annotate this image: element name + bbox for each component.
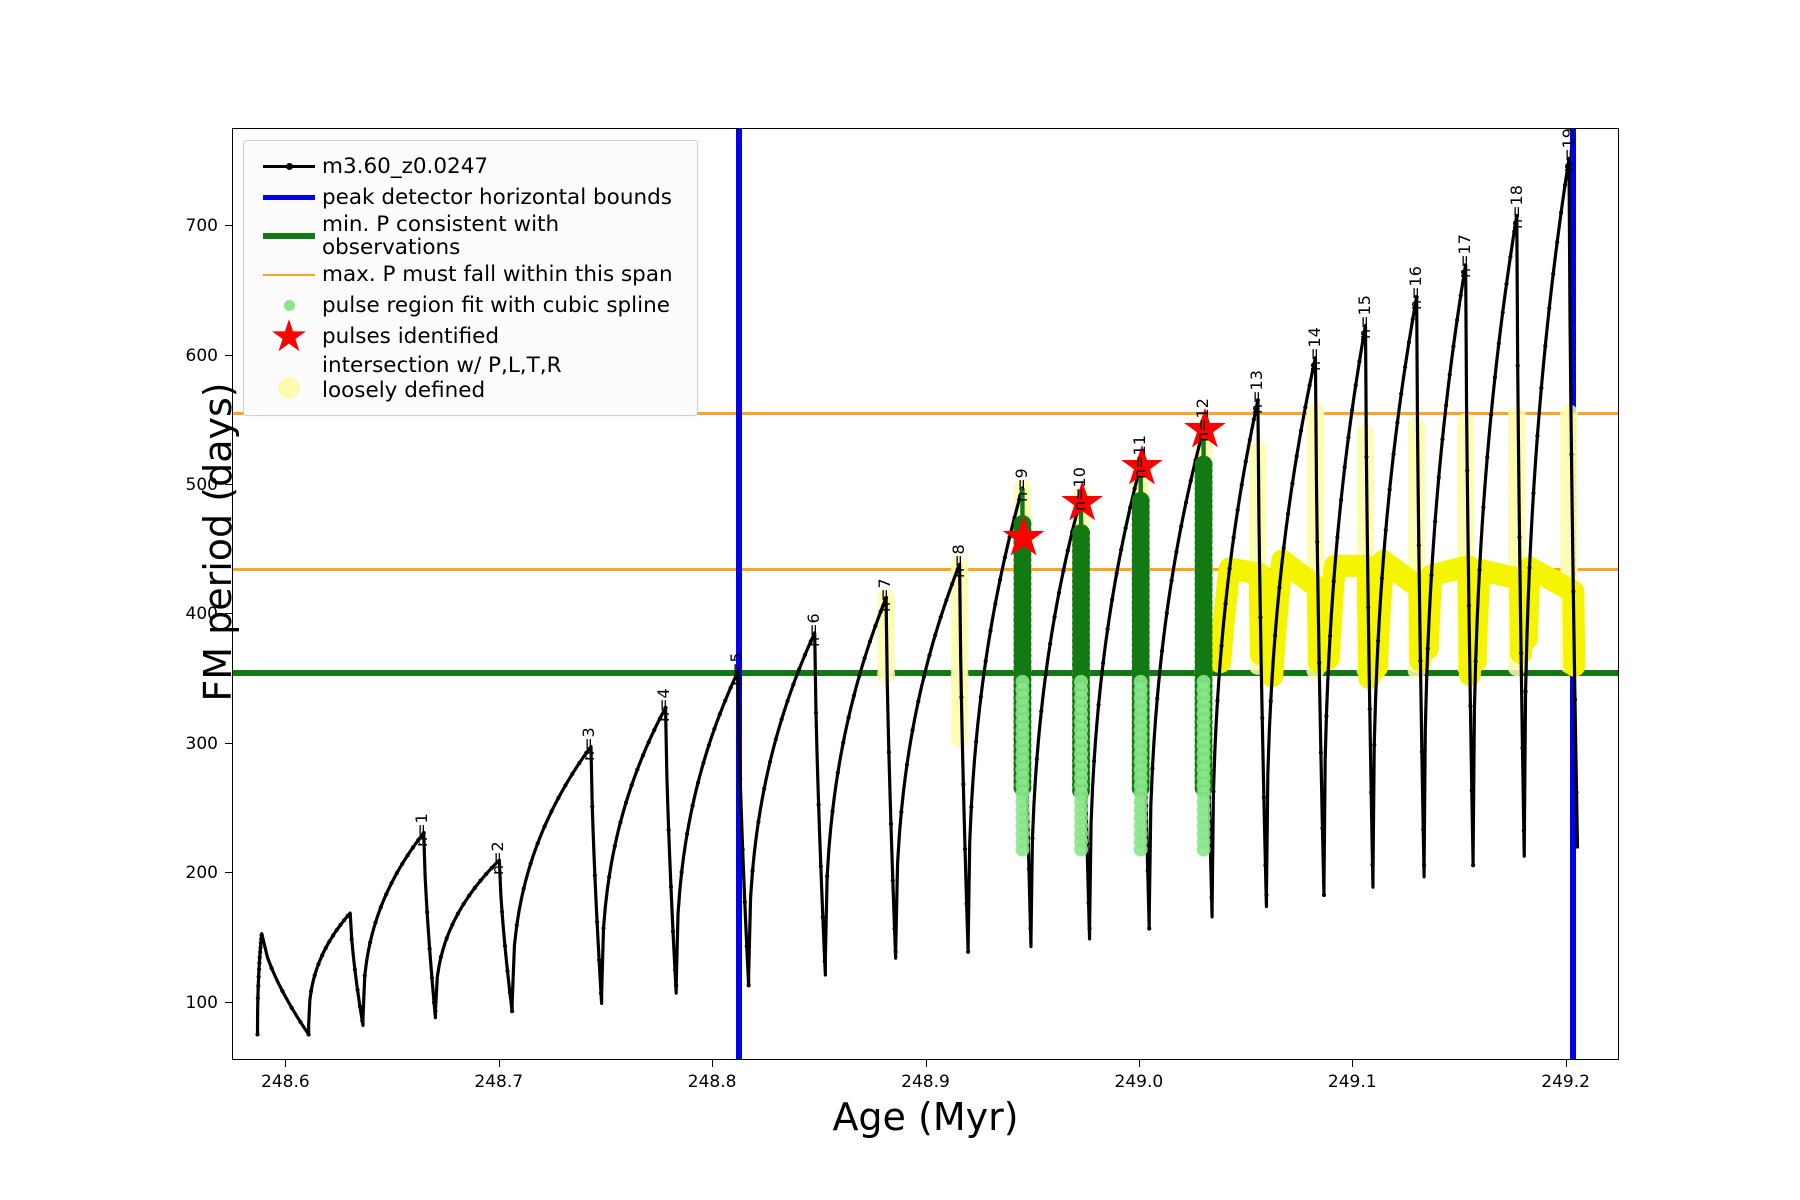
legend-label-intersection: intersection w/ P,L,T,R loosely defined: [322, 354, 562, 402]
x-tick-label: 248.9: [881, 1072, 971, 1092]
legend-item-peak-detector[interactable]: peak detector horizontal bounds: [256, 182, 685, 213]
peak-index-label: n=1: [412, 814, 431, 848]
red-star-icon: ★: [256, 323, 322, 351]
x-tick-mark: [712, 1060, 713, 1067]
legend-item-min-p[interactable]: min. P consistent with observations: [256, 213, 685, 259]
peak-index-label: n=11: [1130, 435, 1149, 479]
legend-label-max-p: max. P must fall within this span: [322, 263, 673, 286]
blue-line-icon: [256, 184, 322, 212]
orange-line-icon: [256, 261, 322, 289]
y-tick-label: 300: [138, 734, 218, 754]
peak-index-label: n=4: [654, 688, 673, 722]
legend-item-intersection[interactable]: intersection w/ P,L,T,R loosely defined: [256, 352, 685, 402]
y-tick-label: 700: [138, 216, 218, 236]
legend-item-track[interactable]: m3.60_z0.0247: [256, 151, 685, 182]
y-tick-mark: [225, 743, 232, 744]
y-tick-mark: [225, 484, 232, 485]
y-tick-label: 500: [138, 475, 218, 495]
x-tick-mark: [926, 1060, 927, 1067]
yellow-dot-icon: [256, 354, 322, 402]
peak-index-label: n=16: [1406, 266, 1425, 310]
y-tick-mark: [225, 613, 232, 614]
legend-label-pulses: pulses identified: [322, 325, 499, 348]
x-tick-label: 248.7: [454, 1072, 544, 1092]
y-tick-mark: [225, 1002, 232, 1003]
peak-index-label: n=5: [727, 652, 746, 686]
legend-label-min-p: min. P consistent with observations: [322, 213, 685, 259]
x-tick-mark: [1139, 1060, 1140, 1067]
legend-label-intersection-line2: loosely defined: [322, 378, 485, 403]
x-tick-label: 248.6: [240, 1072, 330, 1092]
pulse-spline-columns: [1013, 429, 1212, 857]
peak-index-label: n=12: [1193, 398, 1212, 442]
x-tick-label: 249.1: [1307, 1072, 1397, 1092]
peak-index-label: n=10: [1070, 467, 1089, 511]
line-marker-icon: [256, 153, 322, 181]
x-tick-label: 248.8: [667, 1072, 757, 1092]
peak-index-label: n=13: [1247, 370, 1266, 414]
x-axis-label: Age (Myr): [232, 1095, 1619, 1139]
peak-index-label: n=7: [875, 578, 894, 612]
legend-item-max-p[interactable]: max. P must fall within this span: [256, 259, 685, 290]
y-tick-mark: [225, 355, 232, 356]
legend-item-spline[interactable]: pulse region fit with cubic spline: [256, 290, 685, 321]
legend-label-intersection-line1: intersection w/ P,L,T,R: [322, 353, 562, 378]
legend[interactable]: m3.60_z0.0247 peak detector horizontal b…: [243, 140, 698, 416]
x-tick-mark: [499, 1060, 500, 1067]
x-tick-mark: [285, 1060, 286, 1067]
peak-index-label: n=15: [1355, 295, 1374, 339]
legend-label-peak-detector: peak detector horizontal bounds: [322, 186, 672, 209]
peak-index-label: n=6: [804, 613, 823, 647]
green-line-icon: [256, 222, 322, 250]
y-tick-mark: [225, 225, 232, 226]
x-tick-mark: [1352, 1060, 1353, 1067]
x-tick-label: 249.2: [1521, 1072, 1611, 1092]
figure-canvas: FM period (days) Age (Myr) 248.6248.7248…: [0, 0, 1800, 1200]
x-tick-label: 249.0: [1094, 1072, 1184, 1092]
y-tick-mark: [225, 872, 232, 873]
legend-label-spline: pulse region fit with cubic spline: [322, 294, 670, 317]
y-tick-label: 600: [138, 346, 218, 366]
peak-index-label: n=17: [1455, 234, 1474, 278]
x-tick-mark: [1566, 1060, 1567, 1067]
y-tick-label: 200: [138, 863, 218, 883]
legend-item-pulses[interactable]: ★ pulses identified: [256, 321, 685, 352]
peak-index-label: n=8: [949, 544, 968, 578]
peak-index-label: n=18: [1507, 185, 1526, 229]
legend-label-track: m3.60_z0.0247: [322, 155, 488, 178]
peak-index-label: n=19: [1559, 129, 1578, 172]
peak-index-label: n=9: [1012, 468, 1031, 502]
peak-index-label: n=3: [579, 727, 598, 761]
y-tick-label: 100: [138, 993, 218, 1013]
y-tick-label: 400: [138, 604, 218, 624]
peak-index-label: n=2: [488, 841, 507, 875]
peak-index-label: n=14: [1305, 327, 1324, 371]
